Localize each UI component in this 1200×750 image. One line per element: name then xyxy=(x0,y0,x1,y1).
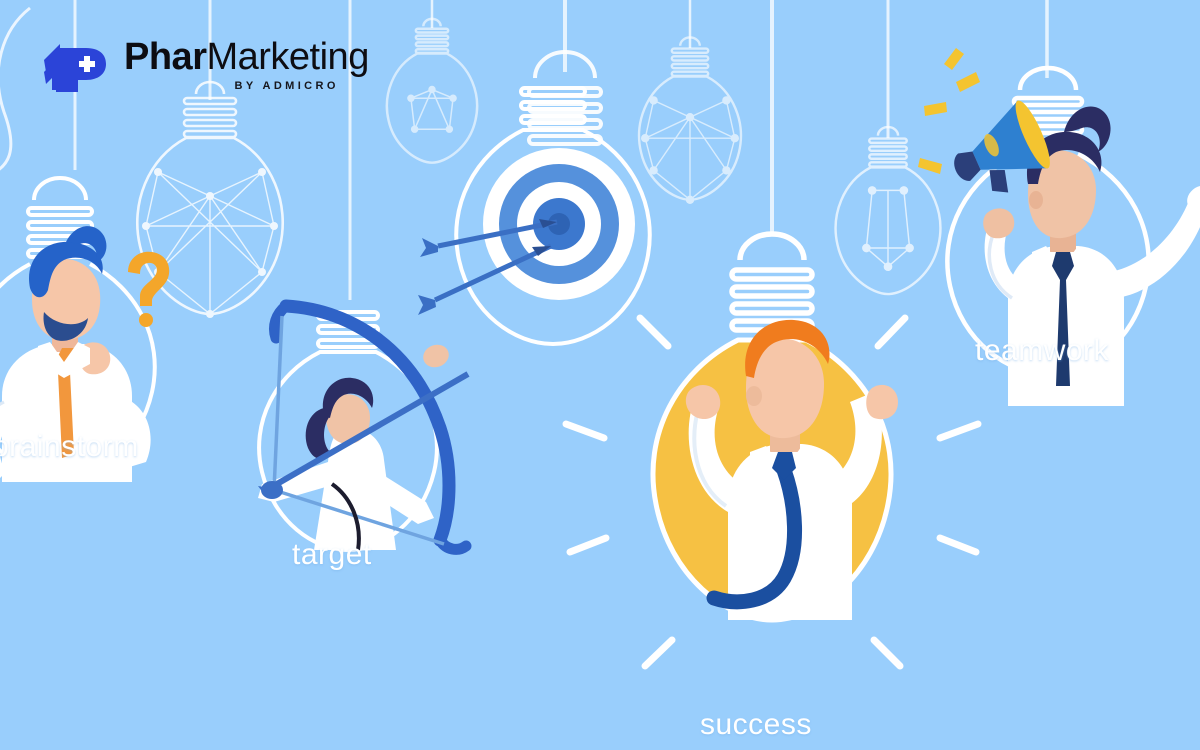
caption-teamwork: teamwork xyxy=(975,334,1109,368)
banner-canvas: PharMarketing BY ADMICRO brainstorm targ… xyxy=(0,0,1200,750)
caption-target: target xyxy=(292,538,372,572)
brand-logo[interactable]: PharMarketing BY ADMICRO xyxy=(38,34,369,96)
logo-word-bold: Phar xyxy=(124,36,206,78)
logo-wordmark: PharMarketing xyxy=(124,38,369,76)
illustration-archer xyxy=(258,306,468,550)
illustration-success xyxy=(566,234,978,666)
question-mark-icon xyxy=(128,252,169,327)
caption-brainstorm: brainstorm xyxy=(0,430,139,464)
illustration-dartboard xyxy=(418,88,650,344)
caption-success: success xyxy=(700,708,812,742)
pharmarketing-logo-mark xyxy=(38,34,110,96)
logo-tagline: BY ADMICRO xyxy=(235,81,339,92)
illustrations-layer xyxy=(0,0,1200,750)
logo-word-light: Marketing xyxy=(206,36,368,78)
dartboard-rings xyxy=(483,148,635,300)
